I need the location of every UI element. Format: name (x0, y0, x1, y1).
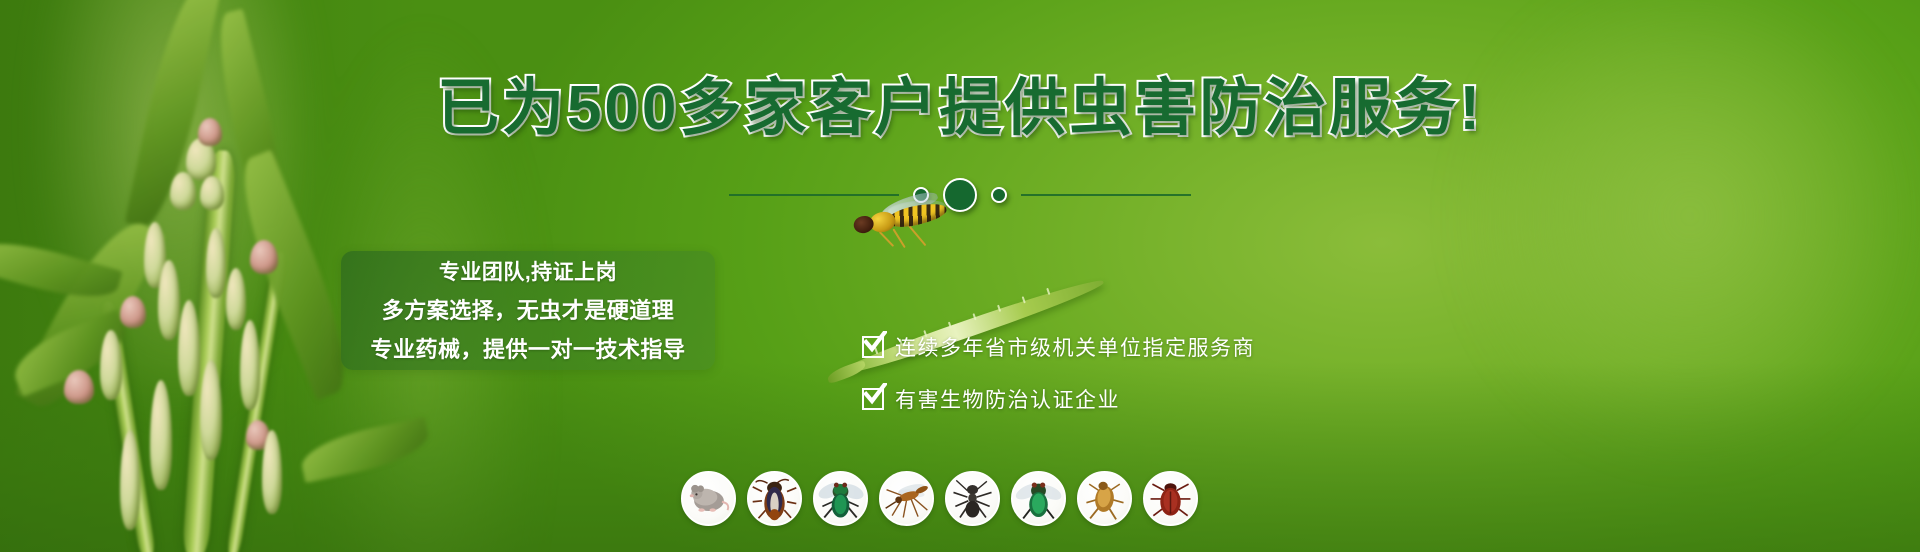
checkbox-checked-icon (862, 388, 884, 410)
list-item: 连续多年省市级机关单位指定服务商 (862, 332, 1255, 362)
credentials-list: 连续多年省市级机关单位指定服务商 有害生物防治认证企业 (862, 332, 1255, 414)
checkbox-checked-icon (862, 336, 884, 358)
features-panel: 专业团队,持证上岗 多方案选择，无虫才是硬道理 专业药械，提供一对一技术指导 (341, 251, 715, 370)
divider-dot-small-right (991, 187, 1007, 203)
mosquito-icon[interactable] (879, 471, 934, 526)
divider-line-right (1021, 194, 1191, 196)
ant-icon[interactable] (945, 471, 1000, 526)
blowfly-icon[interactable] (1011, 471, 1066, 526)
promo-banner: 已为500多家客户提供虫害防治服务! 专业团队,持证上岗 多方案选择，无虫才是硬… (0, 0, 1920, 552)
divider-line-left (729, 194, 899, 196)
features-panel-line-3: 专业药械，提供一对一技术指导 (370, 332, 685, 364)
features-panel-line-2: 多方案选择，无虫才是硬道理 (382, 293, 675, 325)
credential-label: 连续多年省市级机关单位指定服务商 (895, 332, 1255, 362)
pest-icon-row (681, 471, 1198, 526)
page-title: 已为500多家客户提供虫害防治服务! (0, 76, 1920, 141)
features-panel-line-1: 专业团队,持证上岗 (439, 256, 617, 286)
cockroach-icon[interactable] (747, 471, 802, 526)
bedbug-icon[interactable] (1143, 471, 1198, 526)
housefly-icon[interactable] (813, 471, 868, 526)
credential-label: 有害生物防治认证企业 (895, 384, 1120, 414)
flea-icon[interactable] (1077, 471, 1132, 526)
decorative-divider (0, 177, 1920, 213)
list-item: 有害生物防治认证企业 (862, 384, 1255, 414)
mouse-icon[interactable] (681, 471, 736, 526)
